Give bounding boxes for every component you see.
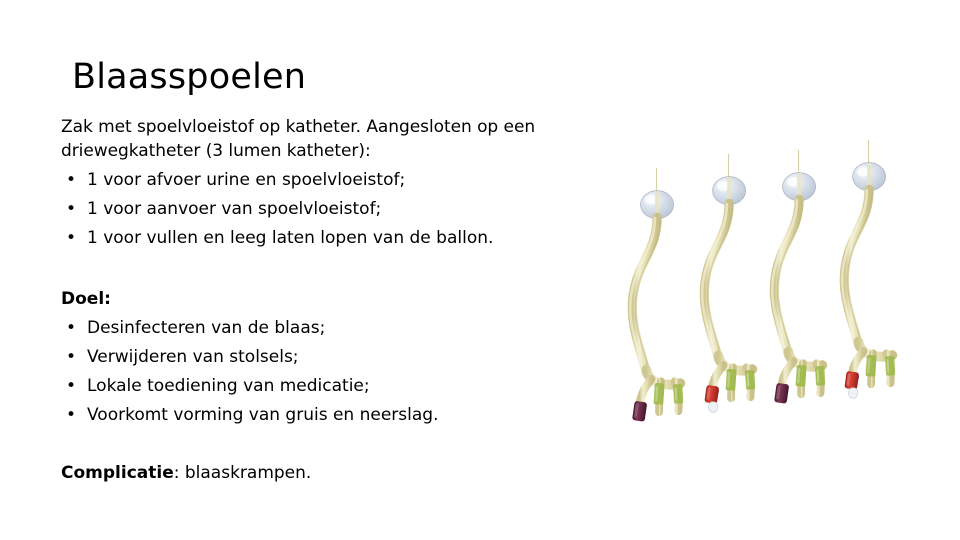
catheter-2 — [702, 152, 755, 412]
complication-label: Complicatie — [61, 463, 174, 483]
list-item-label: Lokale toediening van medicatie; — [87, 376, 370, 396]
list-item: • 1 voor afvoer urine en spoelvloeistof; — [61, 168, 561, 192]
catheter-4 — [842, 138, 895, 398]
purpose-heading: Doel: — [61, 287, 561, 311]
intro-line-1: Zak met spoelvloeistof op katheter. Aang… — [61, 115, 561, 139]
purpose-bullet-list: • Desinfecteren van de blaas; • Verwijde… — [61, 316, 561, 427]
list-item-label: 1 voor afvoer urine en spoelvloeistof; — [87, 170, 405, 190]
list-item-label: 1 voor vullen en leeg laten lopen van de… — [87, 228, 493, 248]
list-item: • Lokale toediening van medicatie; — [61, 374, 561, 398]
list-item-label: Verwijderen van stolsels; — [87, 347, 299, 367]
bullet-icon: • — [66, 197, 76, 221]
list-item-label: Desinfecteren van de blaas; — [87, 318, 325, 338]
complication-value: : blaaskrampen. — [174, 463, 312, 483]
list-item: • Verwijderen van stolsels; — [61, 345, 561, 369]
catheter-figure — [612, 130, 952, 430]
list-item: • Desinfecteren van de blaas; — [61, 316, 561, 340]
bullet-icon: • — [66, 345, 76, 369]
list-item: • Voorkomt vorming van gruis en neerslag… — [61, 403, 561, 427]
section-spacer — [61, 255, 561, 287]
intro-paragraph: Zak met spoelvloeistof op katheter. Aang… — [61, 115, 561, 163]
bullet-icon: • — [66, 316, 76, 340]
bullet-icon: • — [66, 168, 76, 192]
slide-body: Zak met spoelvloeistof op katheter. Aang… — [61, 115, 561, 485]
catheter-3 — [772, 148, 825, 404]
list-item-label: 1 voor aanvoer van spoelvloeistof; — [87, 199, 381, 219]
bullet-icon: • — [66, 374, 76, 398]
lumen-bullet-list: • 1 voor afvoer urine en spoelvloeistof;… — [61, 168, 561, 250]
list-item: • 1 voor aanvoer van spoelvloeistof; — [61, 197, 561, 221]
list-item: • 1 voor vullen en leeg laten lopen van … — [61, 226, 561, 250]
intro-line-2: driewegkatheter (3 lumen katheter): — [61, 139, 561, 163]
bullet-icon: • — [66, 403, 76, 427]
complication-paragraph: Complicatie: blaaskrampen. — [61, 461, 561, 485]
list-item-label: Voorkomt vorming van gruis en neerslag. — [87, 405, 438, 425]
catheter-illustration — [612, 130, 952, 430]
bullet-icon: • — [66, 226, 76, 250]
page-title: Blaasspoelen — [72, 55, 306, 99]
catheter-1 — [630, 166, 683, 422]
slide-canvas: Blaasspoelen Zak met spoelvloeistof op k… — [0, 0, 960, 540]
